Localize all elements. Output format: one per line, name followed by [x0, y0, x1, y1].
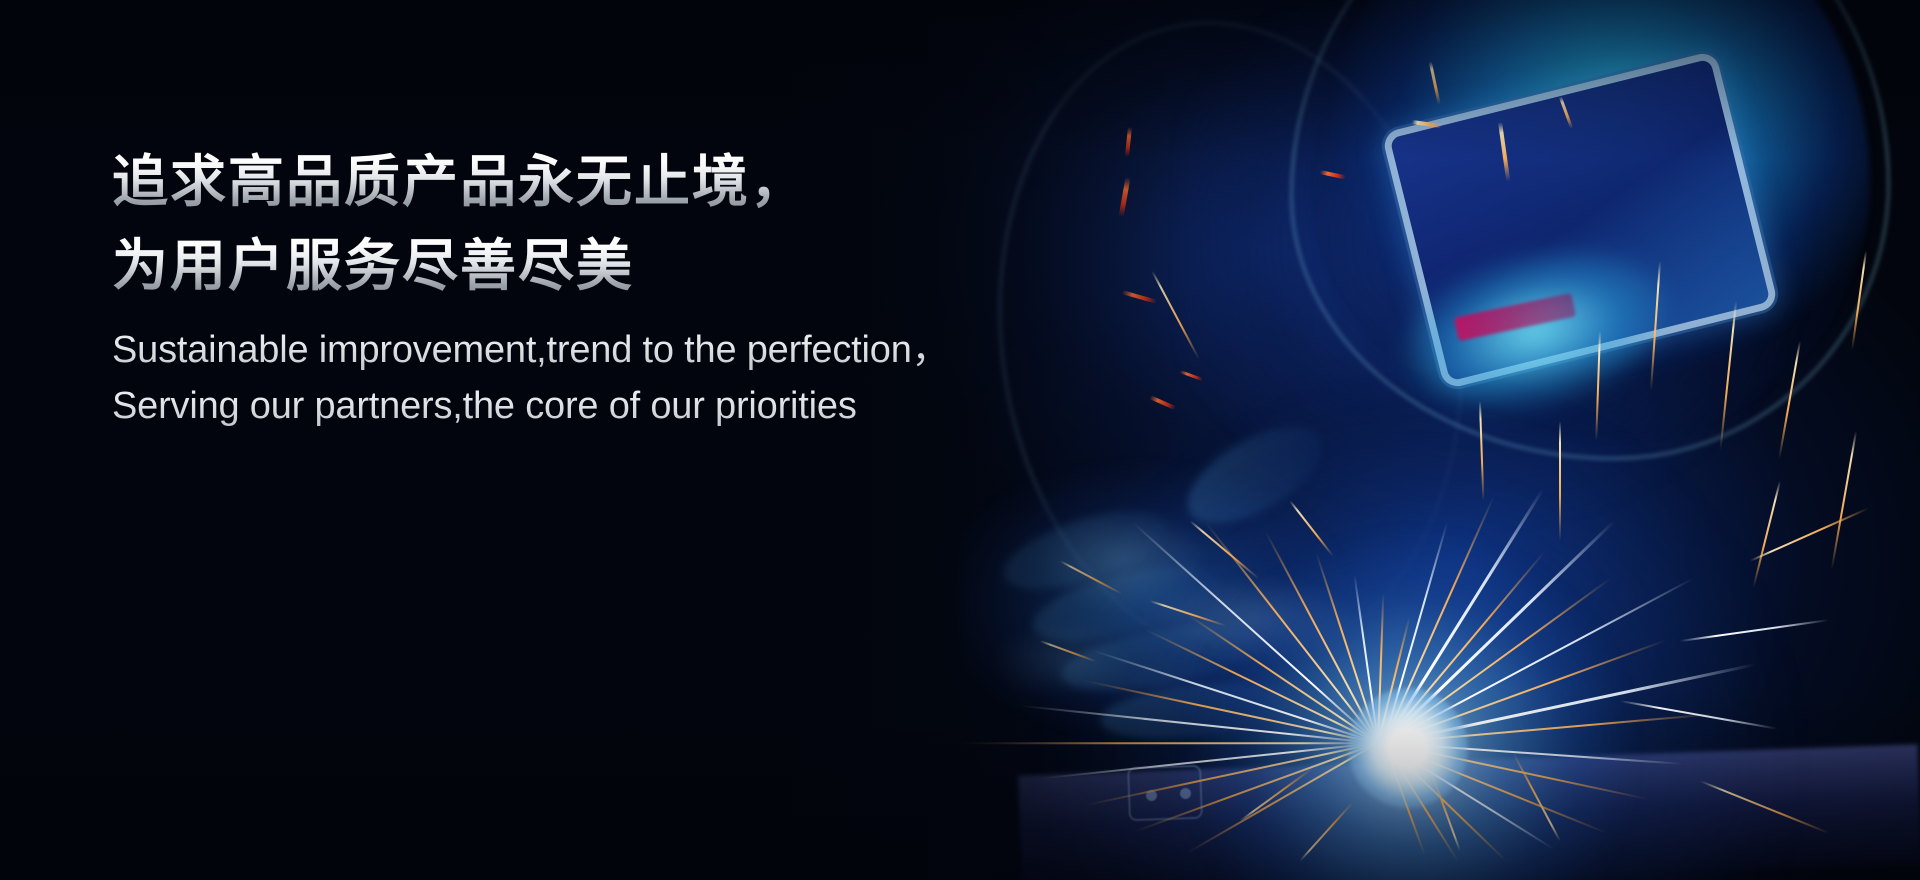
spark: [1752, 481, 1781, 588]
subheadline-group: Sustainable improvement,trend to the per…: [112, 322, 1112, 434]
spark: [1559, 421, 1561, 541]
spark: [1144, 628, 1379, 744]
hero-banner: 追求高品质产品永无止境， 为用户服务尽善尽美 Sustainable impro…: [0, 0, 1920, 880]
spark: [1479, 401, 1484, 501]
spark: [1428, 61, 1440, 105]
spark: [1680, 619, 1829, 642]
subheadline-line-2: Serving our partners,the core of our pri…: [112, 378, 1112, 434]
spark: [1620, 700, 1778, 730]
spark: [1320, 170, 1346, 179]
spark: [1299, 801, 1354, 862]
spark: [1187, 614, 1379, 744]
headline-line-2: 为用户服务尽善尽美: [112, 224, 1112, 308]
spark: [958, 742, 1378, 744]
spark: [1700, 780, 1831, 834]
spark: [1119, 177, 1131, 217]
spark: [1150, 600, 1227, 627]
spark: [1595, 331, 1601, 441]
spark: [1650, 261, 1661, 391]
headline-line-1: 追求高品质产品永无止境，: [112, 140, 1112, 224]
welding-arc: [1348, 688, 1468, 808]
spark: [1289, 500, 1334, 556]
spark: [1125, 127, 1132, 157]
spark-field: [0, 0, 1920, 880]
spark: [1558, 96, 1573, 129]
spark: [1040, 640, 1097, 662]
welding-photo: [0, 0, 1920, 880]
spark: [1151, 271, 1200, 360]
spark: [1239, 767, 1313, 822]
spark: [1059, 560, 1122, 595]
spark: [1498, 122, 1510, 182]
spark: [1778, 341, 1801, 460]
hero-copy: 追求高品质产品永无止境， 为用户服务尽善尽美 Sustainable impro…: [112, 140, 1112, 434]
spark: [1121, 290, 1157, 304]
spark: [1831, 431, 1857, 569]
spark: [1189, 520, 1259, 580]
spark: [1179, 370, 1203, 381]
spark: [1412, 120, 1442, 128]
spark: [1149, 395, 1176, 410]
spark: [1719, 301, 1737, 450]
subheadline-line-1: Sustainable improvement,trend to the per…: [112, 322, 1112, 378]
spark: [1851, 251, 1867, 350]
